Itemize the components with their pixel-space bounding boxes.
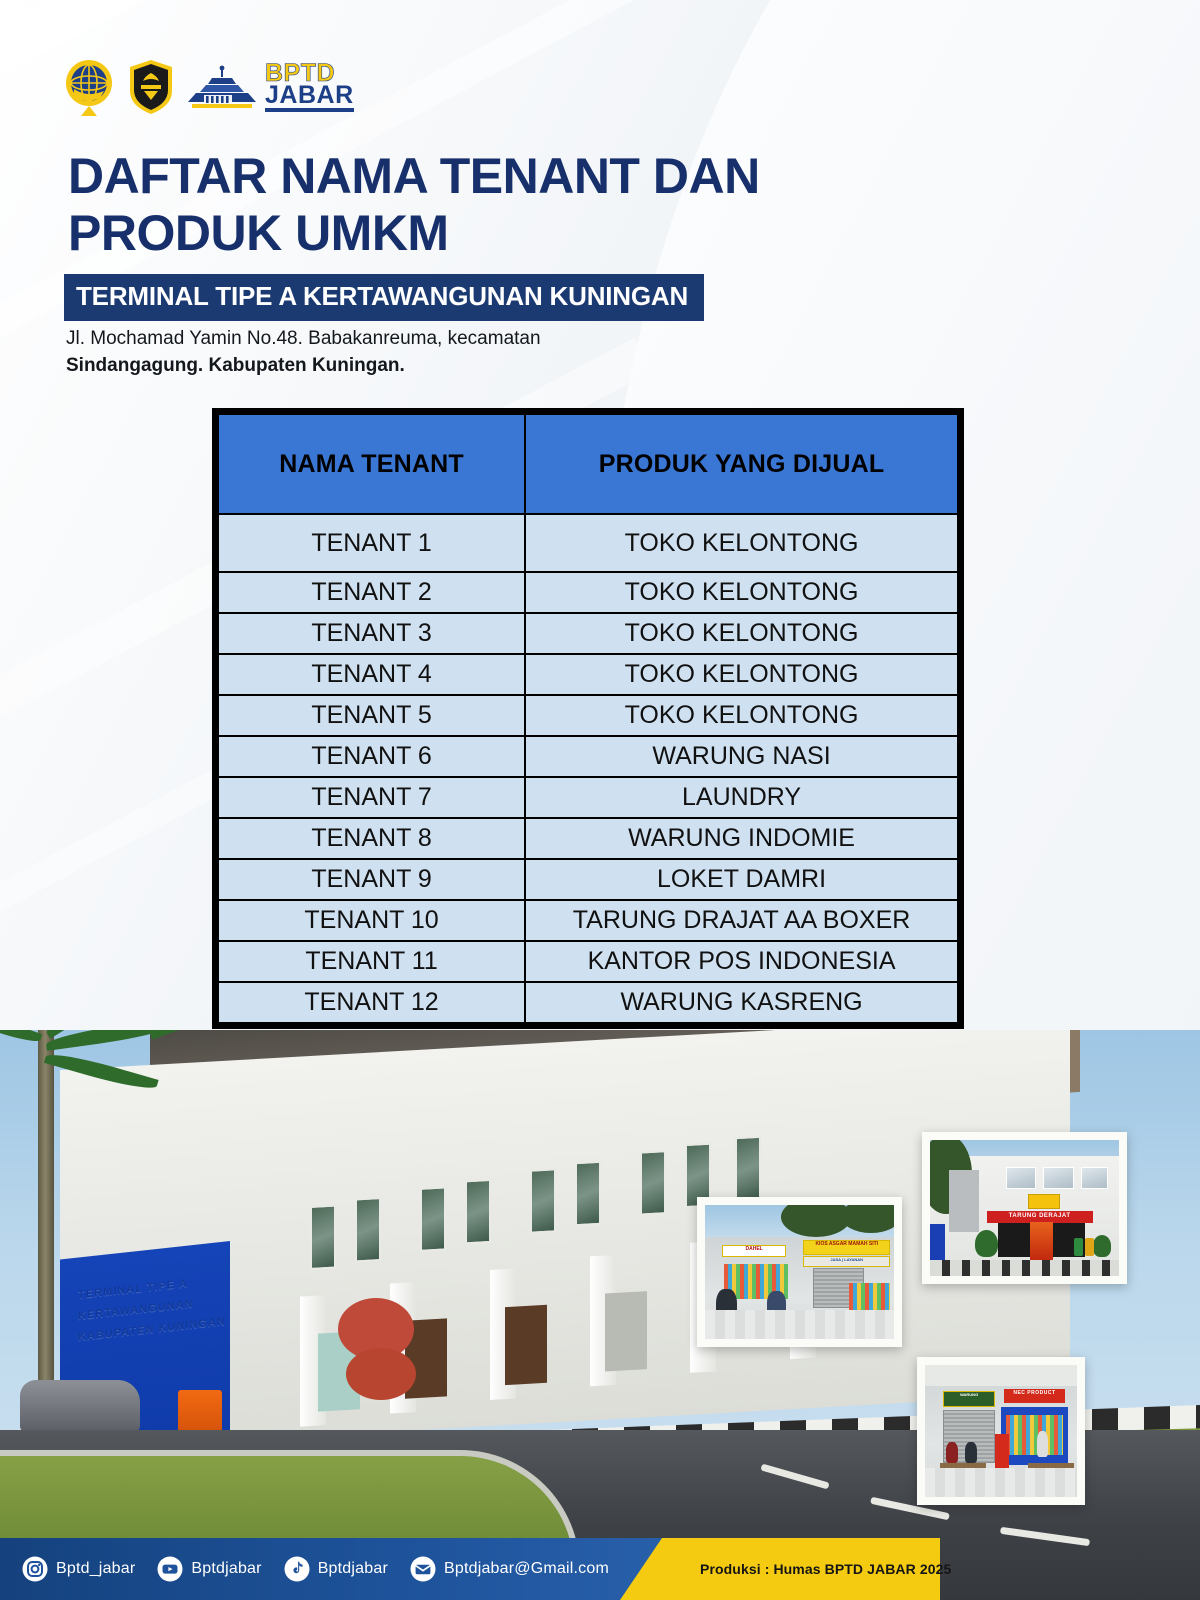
inset-bin: [1085, 1238, 1094, 1256]
photo-window: [310, 1205, 336, 1270]
cell-tenant-name: TENANT 11: [218, 941, 525, 982]
photo-road-barrier: [178, 1390, 222, 1434]
inset-person: [965, 1442, 977, 1463]
photo-door: [605, 1291, 647, 1371]
social-handle: Bptdjabar: [191, 1560, 261, 1578]
inset-photo-pane: TARUNG DERAJAT: [930, 1140, 1119, 1276]
address-block: Jl. Mochamad Yamin No.48. Babakanreuma, …: [66, 326, 541, 380]
social-handle: Bptdjabar@Gmail.com: [444, 1560, 609, 1578]
cell-product: LAUNDRY: [525, 777, 958, 818]
photo-window: [420, 1186, 446, 1251]
cell-tenant-name: TENANT 3: [218, 613, 525, 654]
tiktok-icon[interactable]: [284, 1556, 310, 1582]
cell-product: TOKO KELONTONG: [525, 654, 958, 695]
inset-photo-warung-row: WARUNG NEC PRODUCT: [917, 1357, 1085, 1505]
inset-person: [1037, 1431, 1048, 1457]
table-row: TENANT 11KANTOR POS INDONESIA: [218, 941, 958, 982]
poster-root: BPTD JABAR DAFTAR NAMA TENANT DAN PRODUK…: [0, 0, 1200, 1600]
inset-poster: [1030, 1222, 1053, 1260]
photo-terminal-sign-text: TERMINAL TIPE AKERTAWANGUNANKABUPATEN KU…: [78, 1269, 226, 1348]
table-row: TENANT 4TOKO KELONTONG: [218, 654, 958, 695]
subtitle-text: TERMINAL TIPE A KERTAWANGUNAN KUNINGAN: [76, 281, 688, 311]
table-row: TENANT 5TOKO KELONTONG: [218, 695, 958, 736]
cell-tenant-name: TENANT 7: [218, 777, 525, 818]
inset-floor: [925, 1468, 1077, 1497]
inset-window: [1081, 1167, 1107, 1189]
email-icon[interactable]: [410, 1556, 436, 1582]
social-instagram[interactable]: Bptd_jabar: [22, 1556, 135, 1582]
dishub-globe-logo-icon: [62, 58, 116, 116]
inset-person: [946, 1442, 958, 1463]
social-youtube[interactable]: Bptdjabar: [157, 1556, 261, 1582]
subtitle-bar: TERMINAL TIPE A KERTAWANGUNAN KUNINGAN: [64, 274, 704, 321]
cell-product: TOKO KELONTONG: [525, 695, 958, 736]
gedung-sate-icon: [186, 65, 258, 109]
inset-sign-banner: KIOS ASGAR MAMAH SITI: [803, 1240, 890, 1255]
inset-plant: [975, 1230, 998, 1257]
cell-product: TOKO KELONTONG: [525, 514, 958, 572]
cell-tenant-name: TENANT 1: [218, 514, 525, 572]
cell-product: WARUNG NASI: [525, 736, 958, 777]
table-row: TENANT 7LAUNDRY: [218, 777, 958, 818]
inset-kerb: [930, 1260, 1119, 1276]
tenant-table: NAMA TENANT PRODUK YANG DIJUAL TENANT 1T…: [217, 413, 959, 1024]
address-line-1: Jl. Mochamad Yamin No.48. Babakanreuma, …: [66, 326, 541, 353]
column-header-nama-tenant: NAMA TENANT: [218, 414, 525, 514]
cell-tenant-name: TENANT 9: [218, 859, 525, 900]
inset-plant: [1093, 1235, 1112, 1257]
inset-sign-banner-3: DAHEL: [722, 1245, 786, 1257]
photo-window: [355, 1197, 381, 1262]
table-row: TENANT 1TOKO KELONTONG: [218, 514, 958, 572]
inset-photo-pane: WARUNG NEC PRODUCT: [925, 1365, 1077, 1497]
cell-tenant-name: TENANT 12: [218, 982, 525, 1023]
column-header-produk: PRODUK YANG DIJUAL: [525, 414, 958, 514]
social-tiktok[interactable]: Bptdjabar: [284, 1556, 388, 1582]
table-header-row: NAMA TENANT PRODUK YANG DIJUAL: [218, 414, 958, 514]
cell-product: LOKET DAMRI: [525, 859, 958, 900]
inset-bin: [1074, 1238, 1083, 1256]
bptd-logo-line2: JABAR: [265, 84, 354, 106]
social-email[interactable]: Bptdjabar@Gmail.com: [410, 1556, 609, 1582]
photo-car: [20, 1380, 140, 1432]
cell-tenant-name: TENANT 6: [218, 736, 525, 777]
inset-grey-panel: [949, 1170, 979, 1233]
inset-photo-pane: KIOS ASGAR MAMAH SITI JASA | LAYANAN DAH…: [705, 1205, 894, 1339]
inset-red-cooler: [995, 1434, 1009, 1468]
photo-window: [530, 1168, 556, 1233]
logo-group: BPTD JABAR: [62, 58, 354, 116]
table-body: TENANT 1TOKO KELONTONGTENANT 2TOKO KELON…: [218, 514, 958, 1023]
table-row: TENANT 10TARUNG DRAJAT AA BOXER: [218, 900, 958, 941]
cell-tenant-name: TENANT 8: [218, 818, 525, 859]
inset-window: [1043, 1167, 1073, 1189]
table-row: TENANT 8WARUNG INDOMIE: [218, 818, 958, 859]
social-links: Bptd_jabar Bptdjabar Bptdjabar: [22, 1538, 609, 1600]
inset-floor: [705, 1310, 894, 1339]
inset-awning: [925, 1365, 1077, 1386]
photo-ornamental-tree: [346, 1348, 416, 1400]
inset-sign-banner: WARUNG: [943, 1391, 995, 1407]
social-handle: Bptd_jabar: [56, 1560, 135, 1578]
photo-window: [735, 1136, 761, 1201]
produksi-credit: Produksi : Humas BPTD JABAR 2025: [700, 1538, 951, 1600]
photo-door: [505, 1305, 547, 1385]
instagram-icon[interactable]: [22, 1556, 48, 1582]
inset-photo-tarung-derajat: TARUNG DERAJAT: [922, 1132, 1127, 1284]
inset-sign-banner-2: JASA | LAYANAN: [803, 1256, 890, 1267]
cell-product: KANTOR POS INDONESIA: [525, 941, 958, 982]
tenant-table-container: NAMA TENANT PRODUK YANG DIJUAL TENANT 1T…: [212, 408, 964, 1029]
photo-window: [465, 1179, 491, 1244]
page-title-line1: DAFTAR NAMA TENANT DAN: [68, 148, 760, 205]
youtube-icon[interactable]: [157, 1556, 183, 1582]
cell-tenant-name: TENANT 10: [218, 900, 525, 941]
inset-yellow-sign: [1028, 1194, 1060, 1209]
cell-product: WARUNG KASRENG: [525, 982, 958, 1023]
cell-product: WARUNG INDOMIE: [525, 818, 958, 859]
address-line-2: Sindangagung. Kabupaten Kuningan.: [66, 353, 541, 380]
table-row: TENANT 3TOKO KELONTONG: [218, 613, 958, 654]
page-title-line2: PRODUK UMKM: [68, 205, 760, 262]
cell-product: TOKO KELONTONG: [525, 613, 958, 654]
footer-bar: Bptd_jabar Bptdjabar Bptdjabar: [0, 1538, 1200, 1600]
page-title: DAFTAR NAMA TENANT DAN PRODUK UMKM: [68, 148, 760, 262]
main-photo-terminal-building: TERMINAL TIPE AKERTAWANGUNANKABUPATEN KU…: [0, 1030, 1200, 1600]
inset-goods-shelf: [849, 1283, 891, 1310]
cell-product: TARUNG DRAJAT AA BOXER: [525, 900, 958, 941]
inset-goods-shelf: [1006, 1415, 1064, 1455]
table-row: TENANT 2TOKO KELONTONG: [218, 572, 958, 613]
inset-photo-kios-asgar: KIOS ASGAR MAMAH SITI JASA | LAYANAN DAH…: [697, 1197, 902, 1347]
cell-tenant-name: TENANT 4: [218, 654, 525, 695]
cell-product: TOKO KELONTONG: [525, 572, 958, 613]
inset-sign-red: NEC PRODUCT: [1004, 1389, 1065, 1404]
inset-window: [1006, 1167, 1036, 1189]
table-row: TENANT 12WARUNG KASRENG: [218, 982, 958, 1023]
photo-window: [575, 1161, 601, 1226]
cell-tenant-name: TENANT 5: [218, 695, 525, 736]
social-handle: Bptdjabar: [318, 1560, 388, 1578]
bptd-jabar-logo: BPTD JABAR: [186, 62, 354, 112]
ditjen-hubdat-shield-logo-icon: [128, 59, 174, 115]
photo-window: [640, 1150, 666, 1215]
table-row: TENANT 6WARUNG NASI: [218, 736, 958, 777]
table-row: TENANT 9LOKET DAMRI: [218, 859, 958, 900]
cell-tenant-name: TENANT 2: [218, 572, 525, 613]
